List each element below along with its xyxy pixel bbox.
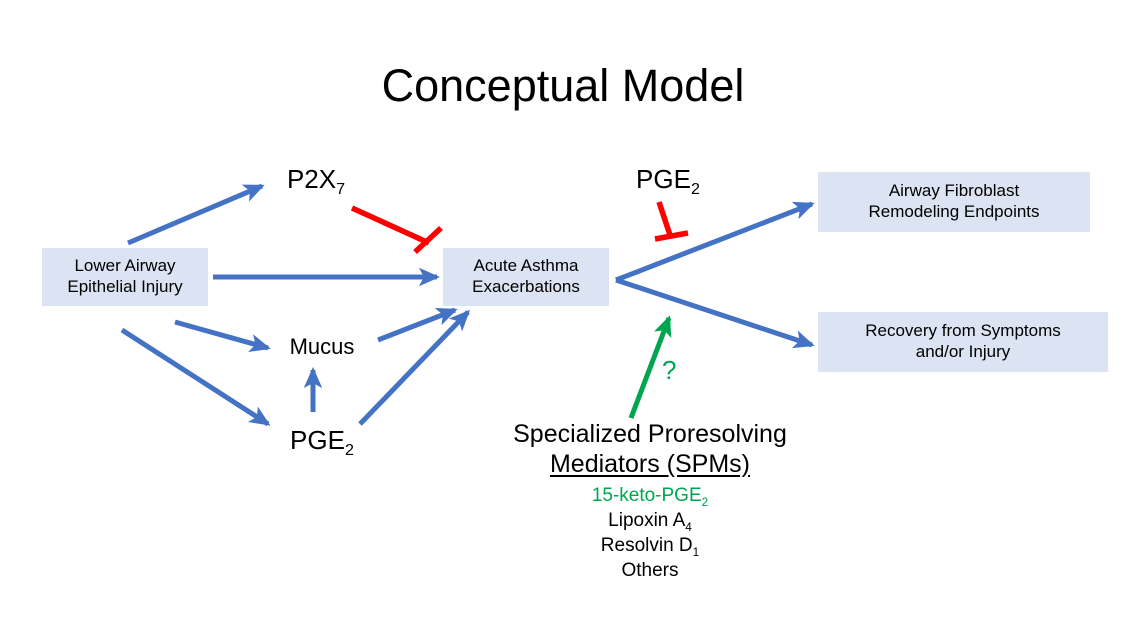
edge-lower-airway-to-p2x7 [128, 186, 262, 243]
edge-lower-airway-to-mucus [175, 322, 268, 348]
node-p2x7-subscript: 7 [336, 180, 345, 198]
node-acute-asthma-line1: Acute Asthma [474, 256, 579, 275]
node-pge2-top-base: PGE [636, 164, 691, 194]
spm-item-2-subscript: 1 [693, 546, 700, 559]
spm-list: 15-keto-PGE2 Lipoxin A4 Resolvin D1 Othe… [470, 483, 830, 583]
spm-item-3-base: Others [621, 560, 678, 581]
spm-item-2-base: Resolvin D [601, 535, 693, 556]
spm-title: Specialized Proresolving Mediators (SPMs… [470, 420, 830, 479]
node-pge2-top-subscript: 2 [691, 180, 700, 198]
edge-acute-asthma-to-fibroblast [616, 204, 812, 280]
node-lower-airway-line1: Lower Airway [74, 256, 175, 275]
page-title: Conceptual Model [0, 60, 1126, 112]
node-mucus-label: Mucus [290, 334, 355, 361]
node-recovery-from-symptoms[interactable]: Recovery from Symptoms and/or Injury [818, 312, 1108, 372]
spm-title-line2: Mediators (SPMs) [550, 450, 750, 478]
spm-item-0-base: 15-keto-PGE [592, 485, 702, 506]
node-acute-asthma-exacerbations[interactable]: Acute Asthma Exacerbations [443, 248, 609, 306]
edge-pge2-top-inhibits-acute-asthma [655, 202, 688, 239]
node-lower-airway-line2: Epithelial Injury [67, 277, 182, 296]
edge-acute-asthma-to-recovery [616, 280, 812, 345]
spm-item-resolvin-d1: Resolvin D1 [470, 533, 830, 558]
node-lower-airway-epithelial-injury[interactable]: Lower Airway Epithelial Injury [42, 248, 208, 306]
edge-mucus-to-acute-asthma [378, 310, 455, 340]
node-pge2-bottom[interactable]: PGE2 [272, 420, 372, 462]
node-recovery-line1: Recovery from Symptoms [865, 321, 1061, 340]
node-mucus[interactable]: Mucus [272, 330, 372, 364]
node-airway-fibroblast-remodeling-endpoints[interactable]: Airway Fibroblast Remodeling Endpoints [818, 172, 1090, 232]
node-pge2-bottom-subscript: 2 [345, 441, 354, 459]
node-recovery-line2: and/or Injury [916, 342, 1011, 361]
node-p2x7-base: P2X [287, 164, 336, 194]
edge-p2x7-inhibits-acute-asthma [352, 208, 441, 252]
diagram-canvas: Conceptual Model [0, 0, 1126, 633]
spm-title-line1: Specialized Proresolving [513, 420, 787, 448]
node-p2x7[interactable]: P2X7 [268, 160, 364, 200]
spm-item-0-subscript: 2 [702, 496, 709, 509]
node-fibroblast-line1: Airway Fibroblast [889, 181, 1019, 200]
uncertainty-question-mark: ? [662, 355, 676, 386]
spm-item-lipoxin-a4: Lipoxin A4 [470, 508, 830, 533]
spm-item-15-keto-pge2: 15-keto-PGE2 [470, 483, 830, 508]
edge-pge2-to-acute-asthma [360, 312, 468, 424]
edge-lower-airway-to-pge2 [122, 330, 268, 424]
spm-block: Specialized Proresolving Mediators (SPMs… [470, 420, 830, 583]
node-fibroblast-line2: Remodeling Endpoints [868, 202, 1039, 221]
spm-item-1-subscript: 4 [685, 521, 692, 534]
node-pge2-top[interactable]: PGE2 [618, 160, 718, 200]
spm-item-others: Others [470, 558, 830, 583]
spm-item-1-base: Lipoxin A [608, 510, 685, 531]
node-pge2-bottom-base: PGE [290, 425, 345, 455]
node-acute-asthma-line2: Exacerbations [472, 277, 580, 296]
